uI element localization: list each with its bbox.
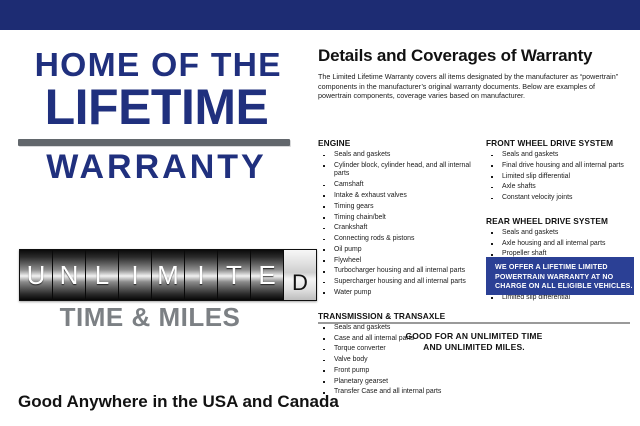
coverage-item: Oil pump: [318, 246, 478, 255]
coverage-item: Axle shafts: [486, 183, 640, 192]
hero-panel: HOME OF THE LIFETIME WARRANTY UNLIMITED …: [0, 30, 310, 426]
bottom-divider-rule: [318, 322, 630, 324]
coverage-item: Turbocharger housing and all internal pa…: [318, 267, 478, 276]
hero-line-warranty: WARRANTY: [16, 150, 297, 184]
offer-callout-box: WE OFFER A LIFETIME LIMITED POWERTRAIN W…: [486, 257, 634, 295]
warranty-poster: HOME OF THE LIFETIME WARRANTY UNLIMITED …: [0, 0, 640, 426]
odometer-cell: I: [119, 250, 152, 300]
coverage-item: Transfer Case and all internal parts: [318, 388, 478, 397]
details-panel: Details and Coverages of Warranty The Li…: [310, 30, 640, 426]
hero-divider-rule: [18, 139, 290, 146]
odometer-cell: T: [218, 250, 251, 300]
coverage-item: Supercharger housing and all internal pa…: [318, 278, 478, 287]
section-spacer: [486, 205, 640, 216]
coverage-item: Valve body: [318, 356, 478, 365]
odometer-cell: M: [152, 250, 185, 300]
callout-line-1: WE OFFER A LIFETIME LIMITED: [495, 263, 634, 273]
coverage-section-heading: FRONT WHEEL DRIVE SYSTEM: [486, 138, 640, 149]
odometer-cell: U: [20, 250, 53, 300]
coverage-item: Timing gears: [318, 203, 478, 212]
coverage-item: Seals and gaskets: [318, 151, 478, 160]
coverage-item: Limited slip differential: [486, 173, 640, 182]
odometer-cell: L: [86, 250, 119, 300]
coverage-section-heading: TRANSMISSION & TRANSAXLE: [318, 311, 478, 322]
coverage-item: Seals and gaskets: [486, 151, 640, 160]
time-and-miles-tagline: TIME & MILES: [19, 304, 281, 330]
good-for-unlimited-footer: GOOD FOR AN UNLIMITED TIME AND UNLIMITED…: [318, 331, 630, 353]
coverage-item: Camshaft: [318, 181, 478, 190]
good-for-line-1: GOOD FOR AN UNLIMITED TIME: [318, 331, 630, 342]
coverage-item: Planetary gearset: [318, 378, 478, 387]
section-spacer: [318, 300, 478, 311]
good-for-line-2: AND UNLIMITED MILES.: [318, 342, 630, 353]
coverage-item: Intake & exhaust valves: [318, 192, 478, 201]
coverage-item: Final drive housing and all internal par…: [486, 162, 640, 171]
coverage-item-list: Seals and gasketsFinal drive housing and…: [486, 151, 640, 203]
odometer-display: UNLIMITED: [19, 249, 317, 301]
coverage-item: Flywheel: [318, 257, 478, 266]
coverage-column-left: ENGINESeals and gasketsCylinder block, c…: [318, 138, 478, 399]
coverage-item: Front pump: [318, 367, 478, 376]
coverage-section-heading: ENGINE: [318, 138, 478, 149]
coverage-item: Timing chain/belt: [318, 214, 478, 223]
coverage-section-heading: REAR WHEEL DRIVE SYSTEM: [486, 216, 640, 227]
coverage-item: Axle housing and all internal parts: [486, 240, 640, 249]
coverage-item: Constant velocity joints: [486, 194, 640, 203]
coverage-item: Crankshaft: [318, 224, 478, 233]
odometer-cell: E: [251, 250, 284, 300]
coverage-item: Connecting rods & pistons: [318, 235, 478, 244]
coverage-item: Cylinder block, cylinder head, and all i…: [318, 162, 478, 179]
coverage-item: Water pump: [318, 289, 478, 298]
hero-line-home: HOME OF THE: [18, 48, 299, 81]
odometer-cell: N: [53, 250, 86, 300]
good-anywhere-footer: Good Anywhere in the USA and Canada: [18, 392, 303, 412]
odometer-cell: I: [185, 250, 218, 300]
details-intro-paragraph: The Limited Lifetime Warranty covers all…: [318, 72, 630, 101]
coverage-item: Seals and gaskets: [486, 229, 640, 238]
hero-line-lifetime: LIFETIME: [14, 82, 299, 132]
callout-line-2: POWERTRAIN WARRANTY AT NO: [495, 273, 634, 283]
details-title: Details and Coverages of Warranty: [318, 46, 638, 66]
coverage-item-list: Seals and gasketsCylinder block, cylinde…: [318, 151, 478, 298]
top-accent-band: [0, 0, 640, 30]
callout-line-3: CHARGE ON ALL ELIGIBLE VEHICLES.: [495, 282, 634, 292]
